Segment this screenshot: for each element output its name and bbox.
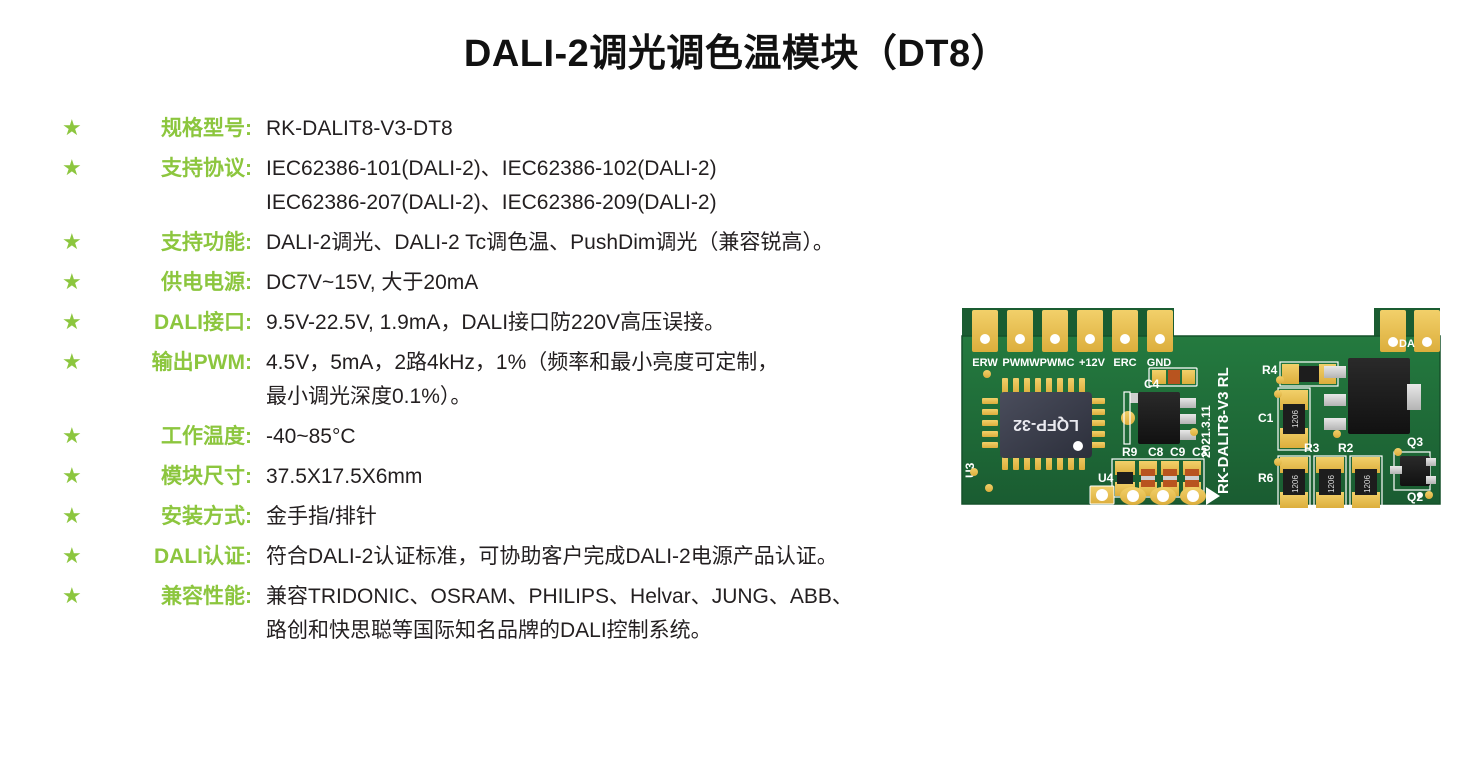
spec-value-line: IEC62386-101(DALI-2)、IEC62386-102(DALI-2…: [266, 152, 1012, 186]
star-cell: ★: [62, 500, 96, 527]
spec-label-compatibility: 兼容性能:: [96, 580, 252, 614]
pcb-label-c9: C9: [1170, 445, 1186, 459]
spec-value-line: 最小调光深度0.1%）。: [266, 380, 1012, 414]
pcb-label-r3: R3: [1304, 441, 1320, 455]
spec-row-dimensions: ★ 模块尺寸: 37.5X17.5X6mm: [62, 460, 1012, 494]
pcb-board-text-main: RK-DALIT8-V3 RL: [1215, 367, 1232, 494]
spec-value-line: RK-DALIT8-V3-DT8: [266, 112, 1012, 146]
pcb-resistor-code: 1206: [1327, 475, 1336, 493]
star-icon: ★: [62, 505, 96, 527]
pcb-label-gnd: GND: [1147, 357, 1172, 369]
spec-value-model: RK-DALIT8-V3-DT8: [252, 112, 1012, 146]
pcb-resistor-code: 1206: [1291, 410, 1300, 428]
spec-value-line: 4.5V，5mA，2路4kHz，1%（频率和最小亮度可定制，: [266, 346, 1012, 380]
pcb-label-c4: C4: [1144, 377, 1160, 391]
pcb-label-erc: ERC: [1113, 357, 1136, 369]
spec-label-functions: 支持功能:: [96, 226, 252, 260]
spec-value-line: 路创和快思聪等国际知名品牌的DALI控制系统。: [266, 614, 1012, 648]
spec-label-pwm-output: 输出PWM:: [96, 346, 252, 380]
star-icon: ★: [62, 231, 96, 253]
pcb-label-r4: R4: [1262, 363, 1278, 377]
spec-value-line: IEC62386-207(DALI-2)、IEC62386-209(DALI-2…: [266, 186, 1012, 220]
spec-value-line: DC7V~15V, 大于20mA: [266, 266, 1012, 300]
pcb-passives-row-right: 1206 1206 1206: [1274, 456, 1382, 508]
star-cell: ★: [62, 226, 96, 253]
spec-label-temperature: 工作温度:: [96, 420, 252, 454]
spec-row-mounting: ★ 安装方式: 金手指/排针: [62, 500, 1012, 534]
spec-label-dimensions: 模块尺寸:: [96, 460, 252, 494]
star-icon: ★: [62, 157, 96, 179]
spec-value-line: 符合DALI-2认证标准，可协助客户完成DALI-2电源产品认证。: [266, 540, 1012, 574]
star-cell: ★: [62, 580, 96, 607]
pcb-gold-fingers: [962, 308, 1440, 338]
spec-value-dali-interface: 9.5V-22.5V, 1.9mA，DALI接口防220V高压误接。: [252, 306, 1012, 340]
star-icon: ★: [62, 351, 96, 373]
pcb-board-text-date: 2021.3.11: [1199, 405, 1213, 458]
star-cell: ★: [62, 266, 96, 293]
spec-row-protocols: ★ 支持协议: IEC62386-101(DALI-2)、IEC62386-10…: [62, 152, 1012, 220]
star-cell: ★: [62, 540, 96, 567]
spec-row-pwm-output: ★ 输出PWM: 4.5V，5mA，2路4kHz，1%（频率和最小亮度可定制， …: [62, 346, 1012, 414]
pcb-label-r9: R9: [1122, 445, 1138, 459]
star-icon: ★: [62, 271, 96, 293]
spec-label-protocols: 支持协议:: [96, 152, 252, 186]
spec-label-mounting: 安装方式:: [96, 500, 252, 534]
spec-value-temperature: -40~85°C: [252, 420, 1012, 454]
spec-row-model: ★ 规格型号: RK-DALIT8-V3-DT8: [62, 112, 1012, 146]
pcb-resistor-code: 1206: [1363, 475, 1372, 493]
pcb-label-pwmw: PWMW: [1002, 357, 1040, 369]
star-icon: ★: [62, 117, 96, 139]
spec-value-certification: 符合DALI-2认证标准，可协助客户完成DALI-2电源产品认证。: [252, 540, 1012, 574]
pcb-label-q3: Q3: [1407, 435, 1423, 449]
spec-value-pwm-output: 4.5V，5mA，2路4kHz，1%（频率和最小亮度可定制， 最小调光深度0.1…: [252, 346, 1012, 414]
spec-row-compatibility: ★ 兼容性能: 兼容TRIDONIC、OSRAM、PHILIPS、Helvar、…: [62, 580, 1012, 648]
spec-row-certification: ★ DALI认证: 符合DALI-2认证标准，可协助客户完成DALI-2电源产品…: [62, 540, 1012, 574]
spec-value-compatibility: 兼容TRIDONIC、OSRAM、PHILIPS、Helvar、JUNG、ABB…: [252, 580, 1012, 648]
star-icon: ★: [62, 545, 96, 567]
pcb-via: [985, 484, 993, 492]
pcb-label-r6: R6: [1258, 471, 1274, 485]
star-cell: ★: [62, 460, 96, 487]
pcb-terminals: [1324, 366, 1346, 438]
pcb-via: [983, 370, 991, 378]
pcb-label-da: DA: [1399, 338, 1415, 350]
spec-row-dali-interface: ★ DALI接口: 9.5V-22.5V, 1.9mA，DALI接口防220V高…: [62, 306, 1012, 340]
spec-value-line: 37.5X17.5X6mm: [266, 460, 1012, 494]
spec-value-line: DALI-2调光、DALI-2 Tc调色温、PushDim调光（兼容锐高）。: [266, 226, 1012, 260]
star-cell: ★: [62, 112, 96, 139]
pcb-via: [970, 468, 978, 476]
spec-value-dimensions: 37.5X17.5X6mm: [252, 460, 1012, 494]
spec-value-line: 金手指/排针: [266, 500, 1012, 534]
pcb-resistor-code: 1206: [1291, 475, 1300, 493]
star-cell: ★: [62, 420, 96, 447]
pcb-label-pwmc: PWMC: [1040, 357, 1075, 369]
spec-value-protocols: IEC62386-101(DALI-2)、IEC62386-102(DALI-2…: [252, 152, 1012, 220]
spec-row-functions: ★ 支持功能: DALI-2调光、DALI-2 Tc调色温、PushDim调光（…: [62, 226, 1012, 260]
star-icon: ★: [62, 465, 96, 487]
pcb-label-r2: R2: [1338, 441, 1354, 455]
spec-value-line: -40~85°C: [266, 420, 1012, 454]
spec-label-certification: DALI认证:: [96, 540, 252, 574]
page-title: DALI-2调光调色温模块（DT8）: [0, 22, 1473, 77]
pcb-label-c8: C8: [1148, 445, 1164, 459]
spec-value-power: DC7V~15V, 大于20mA: [252, 266, 1012, 300]
pcb-label-12v: +12V: [1079, 357, 1106, 369]
star-cell: ★: [62, 346, 96, 373]
pcb-label-u4: U4: [1098, 471, 1114, 485]
pcb-label-erw: ERW: [972, 357, 998, 369]
pcb-chip-label: LQFP-32: [1013, 416, 1079, 433]
spec-row-power: ★ 供电电源: DC7V~15V, 大于20mA: [62, 266, 1012, 300]
spec-value-line: 9.5V-22.5V, 1.9mA，DALI接口防220V高压误接。: [266, 306, 1012, 340]
pcb-label-c1: C1: [1258, 411, 1274, 425]
spec-label-power: 供电电源:: [96, 266, 252, 300]
star-cell: ★: [62, 152, 96, 179]
star-icon: ★: [62, 585, 96, 607]
pcb-product-image: DA ERW PWMW PWMC +12V ERC GND: [952, 306, 1442, 538]
spec-value-mounting: 金手指/排针: [252, 500, 1012, 534]
spec-value-line: 兼容TRIDONIC、OSRAM、PHILIPS、Helvar、JUNG、ABB…: [266, 580, 1012, 614]
star-icon: ★: [62, 311, 96, 333]
spec-label-model: 规格型号:: [96, 112, 252, 146]
spec-value-functions: DALI-2调光、DALI-2 Tc调色温、PushDim调光（兼容锐高）。: [252, 226, 1012, 260]
star-icon: ★: [62, 425, 96, 447]
spec-list: ★ 规格型号: RK-DALIT8-V3-DT8 ★ 支持协议: IEC6238…: [62, 112, 1012, 654]
spec-row-temperature: ★ 工作温度: -40~85°C: [62, 420, 1012, 454]
spec-label-dali-interface: DALI接口:: [96, 306, 252, 340]
star-cell: ★: [62, 306, 96, 333]
